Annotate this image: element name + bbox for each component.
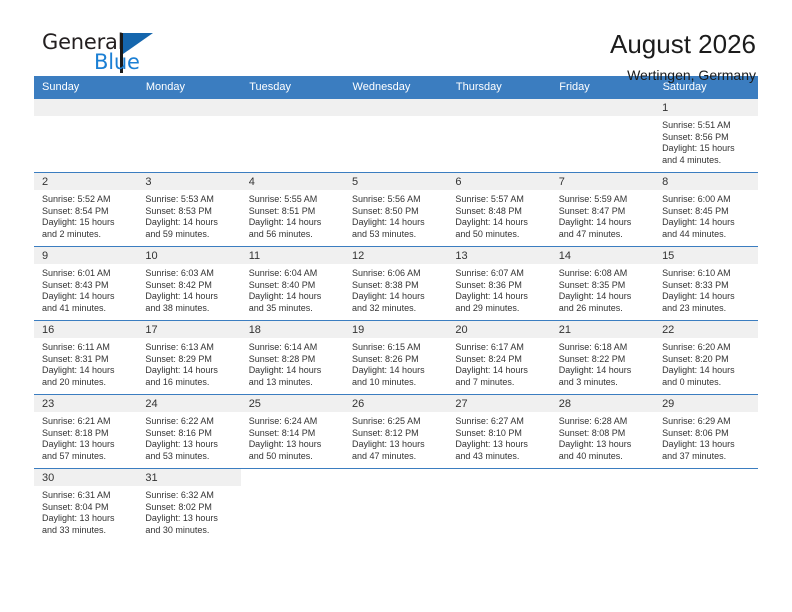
day-daylight-line1-text: Daylight: 15 hours (662, 143, 751, 155)
day-sunrise-text: Sunrise: 5:52 AM (42, 194, 131, 206)
page-title: August 2026 (610, 30, 756, 60)
day-daylight-line2-text: and 59 minutes. (145, 229, 234, 241)
day-daylight-line2-text: and 47 minutes. (559, 229, 648, 241)
day-details: Sunrise: 6:03 AMSunset: 8:42 PMDaylight:… (137, 264, 240, 314)
day-daylight-line1-text: Daylight: 14 hours (145, 365, 234, 377)
day-sunset-text: Sunset: 8:45 PM (662, 206, 751, 218)
day-number-placeholder (551, 99, 654, 116)
day-daylight-line1-text: Daylight: 14 hours (352, 217, 441, 229)
day-number: 2 (34, 173, 137, 190)
calendar-day-cell[interactable]: 20Sunrise: 6:17 AMSunset: 8:24 PMDayligh… (447, 321, 550, 395)
day-daylight-line2-text: and 23 minutes. (662, 303, 751, 315)
day-details: Sunrise: 6:01 AMSunset: 8:43 PMDaylight:… (34, 264, 137, 314)
day-daylight-line1-text: Daylight: 14 hours (559, 217, 648, 229)
day-sunrise-text: Sunrise: 6:32 AM (145, 490, 234, 502)
calendar-table: Sunday Monday Tuesday Wednesday Thursday… (34, 76, 758, 543)
day-sunrise-text: Sunrise: 6:17 AM (455, 342, 544, 354)
calendar-day-cell[interactable]: 30Sunrise: 6:31 AMSunset: 8:04 PMDayligh… (34, 469, 137, 543)
day-details: Sunrise: 6:10 AMSunset: 8:33 PMDaylight:… (654, 264, 757, 314)
day-sunset-text: Sunset: 8:42 PM (145, 280, 234, 292)
day-sunset-text: Sunset: 8:28 PM (249, 354, 338, 366)
day-number: 14 (551, 247, 654, 264)
day-details: Sunrise: 6:18 AMSunset: 8:22 PMDaylight:… (551, 338, 654, 388)
day-daylight-line2-text: and 16 minutes. (145, 377, 234, 389)
day-sunset-text: Sunset: 8:31 PM (42, 354, 131, 366)
day-sunset-text: Sunset: 8:35 PM (559, 280, 648, 292)
day-sunset-text: Sunset: 8:26 PM (352, 354, 441, 366)
day-daylight-line2-text: and 10 minutes. (352, 377, 441, 389)
day-details: Sunrise: 6:04 AMSunset: 8:40 PMDaylight:… (241, 264, 344, 314)
day-sunset-text: Sunset: 8:10 PM (455, 428, 544, 440)
day-sunrise-text: Sunrise: 6:10 AM (662, 268, 751, 280)
day-number: 9 (34, 247, 137, 264)
weekday-header-tuesday: Tuesday (241, 76, 344, 99)
day-daylight-line1-text: Daylight: 14 hours (249, 365, 338, 377)
day-number: 15 (654, 247, 757, 264)
day-daylight-line2-text: and 4 minutes. (662, 155, 751, 167)
calendar-day-cell[interactable]: 1Sunrise: 5:51 AMSunset: 8:56 PMDaylight… (654, 99, 757, 173)
day-daylight-line2-text: and 0 minutes. (662, 377, 751, 389)
day-daylight-line1-text: Daylight: 14 hours (249, 291, 338, 303)
calendar-day-cell[interactable]: 3Sunrise: 5:53 AMSunset: 8:53 PMDaylight… (137, 173, 240, 247)
day-number: 28 (551, 395, 654, 412)
day-sunset-text: Sunset: 8:56 PM (662, 132, 751, 144)
day-sunrise-text: Sunrise: 6:04 AM (249, 268, 338, 280)
day-sunrise-text: Sunrise: 6:08 AM (559, 268, 648, 280)
day-details: Sunrise: 6:22 AMSunset: 8:16 PMDaylight:… (137, 412, 240, 462)
day-number-placeholder (241, 99, 344, 116)
day-daylight-line2-text: and 50 minutes. (249, 451, 338, 463)
calendar-day-cell[interactable]: 29Sunrise: 6:29 AMSunset: 8:06 PMDayligh… (654, 395, 757, 469)
day-sunset-text: Sunset: 8:40 PM (249, 280, 338, 292)
day-number-placeholder (447, 99, 550, 116)
calendar-day-cell[interactable]: 18Sunrise: 6:14 AMSunset: 8:28 PMDayligh… (241, 321, 344, 395)
calendar-blank-cell (447, 99, 550, 173)
day-number-placeholder (34, 99, 137, 116)
day-sunrise-text: Sunrise: 6:13 AM (145, 342, 234, 354)
day-daylight-line2-text: and 33 minutes. (42, 525, 131, 537)
calendar-day-cell[interactable]: 14Sunrise: 6:08 AMSunset: 8:35 PMDayligh… (551, 247, 654, 321)
calendar-day-cell[interactable]: 22Sunrise: 6:20 AMSunset: 8:20 PMDayligh… (654, 321, 757, 395)
calendar-day-cell[interactable]: 2Sunrise: 5:52 AMSunset: 8:54 PMDaylight… (34, 173, 137, 247)
day-sunset-text: Sunset: 8:33 PM (662, 280, 751, 292)
calendar-blank-cell (241, 99, 344, 173)
day-number: 5 (344, 173, 447, 190)
day-details: Sunrise: 5:53 AMSunset: 8:53 PMDaylight:… (137, 190, 240, 240)
day-sunrise-text: Sunrise: 6:20 AM (662, 342, 751, 354)
day-daylight-line1-text: Daylight: 14 hours (662, 291, 751, 303)
day-sunrise-text: Sunrise: 6:27 AM (455, 416, 544, 428)
day-sunset-text: Sunset: 8:43 PM (42, 280, 131, 292)
calendar-day-cell[interactable]: 6Sunrise: 5:57 AMSunset: 8:48 PMDaylight… (447, 173, 550, 247)
day-daylight-line1-text: Daylight: 14 hours (662, 217, 751, 229)
day-sunset-text: Sunset: 8:29 PM (145, 354, 234, 366)
day-sunset-text: Sunset: 8:18 PM (42, 428, 131, 440)
day-number: 18 (241, 321, 344, 338)
day-number: 12 (344, 247, 447, 264)
day-details: Sunrise: 6:07 AMSunset: 8:36 PMDaylight:… (447, 264, 550, 314)
calendar-day-cell[interactable]: 19Sunrise: 6:15 AMSunset: 8:26 PMDayligh… (344, 321, 447, 395)
day-daylight-line1-text: Daylight: 13 hours (455, 439, 544, 451)
day-sunrise-text: Sunrise: 5:59 AM (559, 194, 648, 206)
day-sunset-text: Sunset: 8:04 PM (42, 502, 131, 514)
day-sunrise-text: Sunrise: 6:15 AM (352, 342, 441, 354)
day-number: 19 (344, 321, 447, 338)
day-daylight-line1-text: Daylight: 13 hours (145, 439, 234, 451)
title-block: August 2026 Wertingen, Germany (610, 30, 756, 83)
calendar-day-cell[interactable]: 25Sunrise: 6:24 AMSunset: 8:14 PMDayligh… (241, 395, 344, 469)
calendar-blank-cell (137, 99, 240, 173)
day-number: 21 (551, 321, 654, 338)
day-sunrise-text: Sunrise: 6:21 AM (42, 416, 131, 428)
day-daylight-line2-text: and 44 minutes. (662, 229, 751, 241)
day-sunrise-text: Sunrise: 6:25 AM (352, 416, 441, 428)
day-sunrise-text: Sunrise: 6:22 AM (145, 416, 234, 428)
day-daylight-line1-text: Daylight: 14 hours (42, 291, 131, 303)
general-blue-logo[interactable]: General Blue (36, 30, 186, 82)
day-sunrise-text: Sunrise: 5:55 AM (249, 194, 338, 206)
day-daylight-line2-text: and 3 minutes. (559, 377, 648, 389)
day-number: 30 (34, 469, 137, 486)
day-number: 26 (344, 395, 447, 412)
day-details: Sunrise: 6:31 AMSunset: 8:04 PMDaylight:… (34, 486, 137, 536)
day-daylight-line2-text: and 29 minutes. (455, 303, 544, 315)
calendar-day-cell[interactable]: 17Sunrise: 6:13 AMSunset: 8:29 PMDayligh… (137, 321, 240, 395)
day-number: 1 (654, 99, 757, 116)
calendar-week-row: 30Sunrise: 6:31 AMSunset: 8:04 PMDayligh… (34, 469, 758, 543)
day-sunrise-text: Sunrise: 6:03 AM (145, 268, 234, 280)
day-daylight-line1-text: Daylight: 14 hours (559, 291, 648, 303)
day-sunset-text: Sunset: 8:16 PM (145, 428, 234, 440)
calendar-blank-cell (34, 99, 137, 173)
day-daylight-line2-text: and 35 minutes. (249, 303, 338, 315)
day-sunrise-text: Sunrise: 6:18 AM (559, 342, 648, 354)
calendar-day-cell[interactable]: 11Sunrise: 6:04 AMSunset: 8:40 PMDayligh… (241, 247, 344, 321)
day-number-placeholder (344, 99, 447, 116)
day-daylight-line2-text: and 2 minutes. (42, 229, 131, 241)
day-daylight-line1-text: Daylight: 13 hours (145, 513, 234, 525)
day-details: Sunrise: 5:52 AMSunset: 8:54 PMDaylight:… (34, 190, 137, 240)
day-daylight-line1-text: Daylight: 14 hours (145, 291, 234, 303)
calendar-body: 1Sunrise: 5:51 AMSunset: 8:56 PMDaylight… (34, 99, 758, 543)
day-daylight-line1-text: Daylight: 14 hours (559, 365, 648, 377)
day-daylight-line1-text: Daylight: 14 hours (455, 291, 544, 303)
day-daylight-line1-text: Daylight: 13 hours (559, 439, 648, 451)
day-number: 13 (447, 247, 550, 264)
calendar-day-cell[interactable]: 31Sunrise: 6:32 AMSunset: 8:02 PMDayligh… (137, 469, 240, 543)
day-daylight-line1-text: Daylight: 14 hours (42, 365, 131, 377)
day-sunset-text: Sunset: 8:02 PM (145, 502, 234, 514)
day-sunset-text: Sunset: 8:48 PM (455, 206, 544, 218)
day-number: 8 (654, 173, 757, 190)
weekday-header-wednesday: Wednesday (344, 76, 447, 99)
day-number: 17 (137, 321, 240, 338)
day-number: 27 (447, 395, 550, 412)
day-daylight-line1-text: Daylight: 13 hours (42, 439, 131, 451)
calendar-day-cell[interactable]: 13Sunrise: 6:07 AMSunset: 8:36 PMDayligh… (447, 247, 550, 321)
day-sunset-text: Sunset: 8:53 PM (145, 206, 234, 218)
day-number: 29 (654, 395, 757, 412)
calendar-week-row: 2Sunrise: 5:52 AMSunset: 8:54 PMDaylight… (34, 173, 758, 247)
day-daylight-line2-text: and 53 minutes. (145, 451, 234, 463)
day-daylight-line2-text: and 53 minutes. (352, 229, 441, 241)
day-number: 20 (447, 321, 550, 338)
calendar-day-cell[interactable]: 8Sunrise: 6:00 AMSunset: 8:45 PMDaylight… (654, 173, 757, 247)
day-daylight-line2-text: and 56 minutes. (249, 229, 338, 241)
day-sunrise-text: Sunrise: 6:28 AM (559, 416, 648, 428)
day-sunset-text: Sunset: 8:36 PM (455, 280, 544, 292)
day-details: Sunrise: 6:28 AMSunset: 8:08 PMDaylight:… (551, 412, 654, 462)
day-details: Sunrise: 5:57 AMSunset: 8:48 PMDaylight:… (447, 190, 550, 240)
day-daylight-line2-text: and 13 minutes. (249, 377, 338, 389)
calendar-week-row: 9Sunrise: 6:01 AMSunset: 8:43 PMDaylight… (34, 247, 758, 321)
day-sunset-text: Sunset: 8:47 PM (559, 206, 648, 218)
calendar-empty-cell (241, 469, 344, 543)
day-sunset-text: Sunset: 8:50 PM (352, 206, 441, 218)
calendar-day-cell[interactable]: 23Sunrise: 6:21 AMSunset: 8:18 PMDayligh… (34, 395, 137, 469)
day-daylight-line1-text: Daylight: 13 hours (42, 513, 131, 525)
day-daylight-line1-text: Daylight: 14 hours (455, 217, 544, 229)
day-details: Sunrise: 6:00 AMSunset: 8:45 PMDaylight:… (654, 190, 757, 240)
day-number: 7 (551, 173, 654, 190)
day-daylight-line2-text: and 20 minutes. (42, 377, 131, 389)
day-daylight-line2-text: and 37 minutes. (662, 451, 751, 463)
calendar-week-row: 23Sunrise: 6:21 AMSunset: 8:18 PMDayligh… (34, 395, 758, 469)
calendar-blank-cell (344, 99, 447, 173)
day-number: 4 (241, 173, 344, 190)
day-number: 3 (137, 173, 240, 190)
day-sunrise-text: Sunrise: 5:51 AM (662, 120, 751, 132)
day-daylight-line2-text: and 32 minutes. (352, 303, 441, 315)
calendar-week-row: 1Sunrise: 5:51 AMSunset: 8:56 PMDaylight… (34, 99, 758, 173)
day-daylight-line2-text: and 50 minutes. (455, 229, 544, 241)
calendar-empty-cell (654, 469, 757, 543)
day-daylight-line1-text: Daylight: 14 hours (352, 365, 441, 377)
day-sunset-text: Sunset: 8:24 PM (455, 354, 544, 366)
day-daylight-line1-text: Daylight: 13 hours (662, 439, 751, 451)
day-daylight-line2-text: and 41 minutes. (42, 303, 131, 315)
calendar-day-cell[interactable]: 9Sunrise: 6:01 AMSunset: 8:43 PMDaylight… (34, 247, 137, 321)
day-number: 6 (447, 173, 550, 190)
calendar-blank-cell (551, 99, 654, 173)
day-details: Sunrise: 6:25 AMSunset: 8:12 PMDaylight:… (344, 412, 447, 462)
calendar-empty-cell (447, 469, 550, 543)
day-daylight-line1-text: Daylight: 13 hours (352, 439, 441, 451)
day-details: Sunrise: 6:11 AMSunset: 8:31 PMDaylight:… (34, 338, 137, 388)
day-details: Sunrise: 6:27 AMSunset: 8:10 PMDaylight:… (447, 412, 550, 462)
day-number: 25 (241, 395, 344, 412)
day-details: Sunrise: 6:06 AMSunset: 8:38 PMDaylight:… (344, 264, 447, 314)
day-sunrise-text: Sunrise: 5:56 AM (352, 194, 441, 206)
day-number: 31 (137, 469, 240, 486)
calendar-week-row: 16Sunrise: 6:11 AMSunset: 8:31 PMDayligh… (34, 321, 758, 395)
day-details: Sunrise: 6:20 AMSunset: 8:20 PMDaylight:… (654, 338, 757, 388)
day-daylight-line1-text: Daylight: 13 hours (249, 439, 338, 451)
day-sunrise-text: Sunrise: 6:11 AM (42, 342, 131, 354)
calendar-day-cell[interactable]: 7Sunrise: 5:59 AMSunset: 8:47 PMDaylight… (551, 173, 654, 247)
day-sunset-text: Sunset: 8:14 PM (249, 428, 338, 440)
day-sunset-text: Sunset: 8:54 PM (42, 206, 131, 218)
calendar-day-cell[interactable]: 26Sunrise: 6:25 AMSunset: 8:12 PMDayligh… (344, 395, 447, 469)
day-sunrise-text: Sunrise: 6:01 AM (42, 268, 131, 280)
day-sunrise-text: Sunrise: 5:57 AM (455, 194, 544, 206)
calendar-day-cell[interactable]: 10Sunrise: 6:03 AMSunset: 8:42 PMDayligh… (137, 247, 240, 321)
day-sunrise-text: Sunrise: 6:00 AM (662, 194, 751, 206)
day-sunrise-text: Sunrise: 6:06 AM (352, 268, 441, 280)
day-sunrise-text: Sunrise: 6:31 AM (42, 490, 131, 502)
logo-text-blue: Blue (94, 52, 140, 73)
day-sunset-text: Sunset: 8:22 PM (559, 354, 648, 366)
day-daylight-line1-text: Daylight: 14 hours (662, 365, 751, 377)
day-details: Sunrise: 6:13 AMSunset: 8:29 PMDaylight:… (137, 338, 240, 388)
day-daylight-line2-text: and 57 minutes. (42, 451, 131, 463)
calendar-page: General Blue August 2026 Wertingen, Germ… (0, 0, 792, 612)
day-number: 16 (34, 321, 137, 338)
day-details: Sunrise: 6:21 AMSunset: 8:18 PMDaylight:… (34, 412, 137, 462)
calendar-day-cell[interactable]: 15Sunrise: 6:10 AMSunset: 8:33 PMDayligh… (654, 247, 757, 321)
calendar-day-cell[interactable]: 21Sunrise: 6:18 AMSunset: 8:22 PMDayligh… (551, 321, 654, 395)
day-sunset-text: Sunset: 8:06 PM (662, 428, 751, 440)
day-sunrise-text: Sunrise: 6:29 AM (662, 416, 751, 428)
day-sunrise-text: Sunrise: 6:14 AM (249, 342, 338, 354)
day-number: 23 (34, 395, 137, 412)
page-header: General Blue August 2026 Wertingen, Germ… (0, 0, 792, 76)
day-daylight-line1-text: Daylight: 15 hours (42, 217, 131, 229)
day-details: Sunrise: 6:32 AMSunset: 8:02 PMDaylight:… (137, 486, 240, 536)
day-sunset-text: Sunset: 8:20 PM (662, 354, 751, 366)
day-number: 24 (137, 395, 240, 412)
day-sunset-text: Sunset: 8:38 PM (352, 280, 441, 292)
day-daylight-line2-text: and 40 minutes. (559, 451, 648, 463)
day-number: 10 (137, 247, 240, 264)
day-daylight-line2-text: and 38 minutes. (145, 303, 234, 315)
calendar-day-cell[interactable]: 12Sunrise: 6:06 AMSunset: 8:38 PMDayligh… (344, 247, 447, 321)
day-daylight-line2-text: and 43 minutes. (455, 451, 544, 463)
day-daylight-line2-text: and 7 minutes. (455, 377, 544, 389)
day-daylight-line1-text: Daylight: 14 hours (145, 217, 234, 229)
day-daylight-line2-text: and 30 minutes. (145, 525, 234, 537)
day-sunset-text: Sunset: 8:12 PM (352, 428, 441, 440)
calendar-day-cell[interactable]: 24Sunrise: 6:22 AMSunset: 8:16 PMDayligh… (137, 395, 240, 469)
calendar-day-cell[interactable]: 4Sunrise: 5:55 AMSunset: 8:51 PMDaylight… (241, 173, 344, 247)
calendar-empty-cell (344, 469, 447, 543)
day-number-placeholder (137, 99, 240, 116)
day-daylight-line1-text: Daylight: 14 hours (249, 217, 338, 229)
day-details: Sunrise: 6:24 AMSunset: 8:14 PMDaylight:… (241, 412, 344, 462)
day-number: 11 (241, 247, 344, 264)
day-details: Sunrise: 5:56 AMSunset: 8:50 PMDaylight:… (344, 190, 447, 240)
day-daylight-line1-text: Daylight: 14 hours (352, 291, 441, 303)
day-daylight-line2-text: and 26 minutes. (559, 303, 648, 315)
day-details: Sunrise: 6:17 AMSunset: 8:24 PMDaylight:… (447, 338, 550, 388)
day-details: Sunrise: 6:29 AMSunset: 8:06 PMDaylight:… (654, 412, 757, 462)
day-sunrise-text: Sunrise: 5:53 AM (145, 194, 234, 206)
calendar-empty-cell (551, 469, 654, 543)
day-details: Sunrise: 6:08 AMSunset: 8:35 PMDaylight:… (551, 264, 654, 314)
day-sunrise-text: Sunrise: 6:24 AM (249, 416, 338, 428)
calendar-day-cell[interactable]: 5Sunrise: 5:56 AMSunset: 8:50 PMDaylight… (344, 173, 447, 247)
day-sunrise-text: Sunrise: 6:07 AM (455, 268, 544, 280)
day-daylight-line2-text: and 47 minutes. (352, 451, 441, 463)
day-details: Sunrise: 5:51 AMSunset: 8:56 PMDaylight:… (654, 116, 757, 166)
day-details: Sunrise: 6:14 AMSunset: 8:28 PMDaylight:… (241, 338, 344, 388)
day-daylight-line1-text: Daylight: 14 hours (455, 365, 544, 377)
day-sunset-text: Sunset: 8:51 PM (249, 206, 338, 218)
day-number: 22 (654, 321, 757, 338)
calendar-day-cell[interactable]: 28Sunrise: 6:28 AMSunset: 8:08 PMDayligh… (551, 395, 654, 469)
weekday-header-thursday: Thursday (447, 76, 550, 99)
day-details: Sunrise: 5:55 AMSunset: 8:51 PMDaylight:… (241, 190, 344, 240)
calendar-day-cell[interactable]: 16Sunrise: 6:11 AMSunset: 8:31 PMDayligh… (34, 321, 137, 395)
day-details: Sunrise: 5:59 AMSunset: 8:47 PMDaylight:… (551, 190, 654, 240)
day-details: Sunrise: 6:15 AMSunset: 8:26 PMDaylight:… (344, 338, 447, 388)
day-sunset-text: Sunset: 8:08 PM (559, 428, 648, 440)
calendar-day-cell[interactable]: 27Sunrise: 6:27 AMSunset: 8:10 PMDayligh… (447, 395, 550, 469)
